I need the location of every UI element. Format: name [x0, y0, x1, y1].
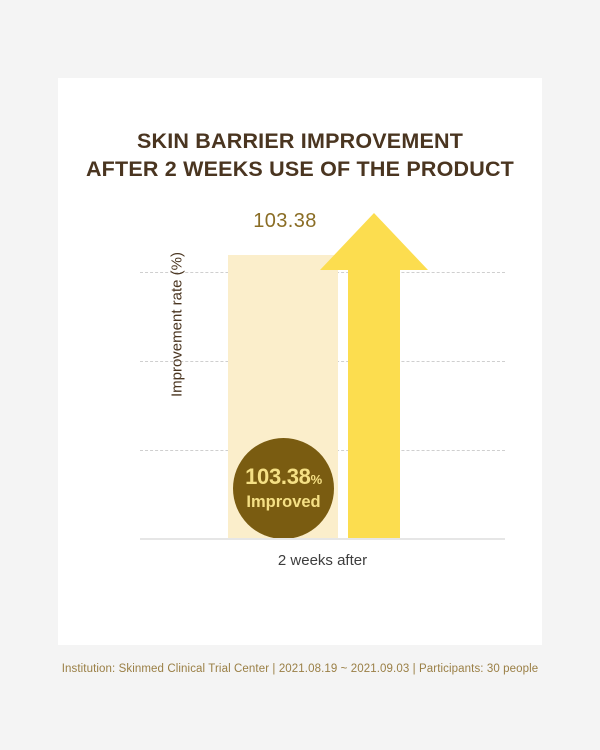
upward-arrow-icon — [320, 213, 428, 538]
x-axis-tick-label: 2 weeks after — [140, 552, 505, 569]
chart-page: SKIN BARRIER IMPROVEMENT AFTER 2 WEEKS U… — [0, 0, 600, 750]
badge-value-number: 103.38 — [245, 464, 311, 489]
improvement-badge: 103.38% Improved — [233, 438, 334, 539]
chart-title-line-1: SKIN BARRIER IMPROVEMENT — [137, 129, 463, 153]
badge-caption: Improved — [246, 492, 320, 512]
plot-area: 103.38 103.38% Improved Improvement rate… — [140, 198, 505, 538]
x-axis-line — [140, 538, 505, 540]
chart-card: SKIN BARRIER IMPROVEMENT AFTER 2 WEEKS U… — [58, 78, 542, 645]
badge-value: 103.38% — [245, 466, 322, 491]
y-axis-label: Improvement rate (%) — [169, 225, 186, 425]
footer-note: Institution: Skinmed Clinical Trial Cent… — [0, 663, 600, 675]
bar-value-label: 103.38 — [200, 210, 370, 233]
badge-percent-symbol: % — [311, 472, 322, 487]
chart-title-line-2: AFTER 2 WEEKS USE OF THE PRODUCT — [58, 155, 542, 183]
chart-title: SKIN BARRIER IMPROVEMENT AFTER 2 WEEKS U… — [58, 127, 542, 183]
